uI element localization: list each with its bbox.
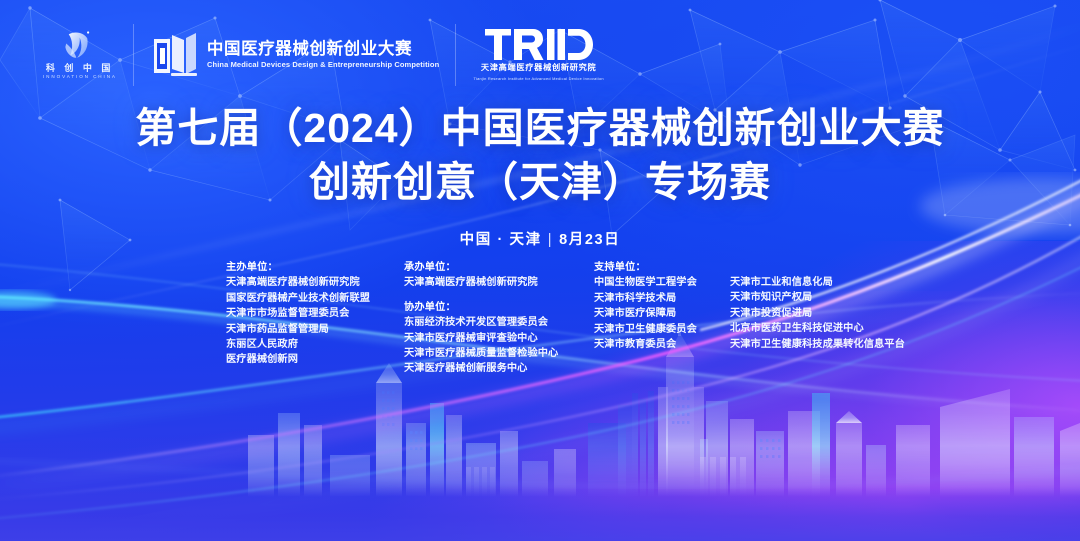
- organizations-column-4: 天津市工业和信息化局 天津市知识产权局 天津市投资促进局 北京市医药卫生科技促进…: [730, 260, 948, 377]
- org-heading: 支持单位：: [594, 260, 712, 275]
- subtitle-date: 8月23日: [559, 232, 620, 248]
- logo-bar: 科 创 中 国 INNOVATION CHINA 中国医疗器械创新创业大赛 Ch…: [26, 24, 618, 86]
- logo-competition: 中国医疗器械创新创业大赛 China Medical Devices Desig…: [133, 24, 456, 86]
- org-item: 天津市医疗器械审评查验中心: [404, 331, 576, 346]
- poster-banner: 科 创 中 国 INNOVATION CHINA 中国医疗器械创新创业大赛 Ch…: [0, 0, 1080, 541]
- triid-logo-cn: 天津高端医疗器械创新研究院: [481, 64, 597, 72]
- competition-logo-en: China Medical Devices Design & Entrepren…: [207, 61, 439, 69]
- org-item: 天津高端医疗器械创新研究院: [404, 275, 576, 290]
- org-item: 天津市知识产权局: [730, 290, 930, 305]
- org-item: 天津市工业和信息化局: [730, 275, 930, 290]
- bottom-vignette: [0, 487, 1080, 541]
- org-heading: 主办单位：: [226, 260, 386, 275]
- org-item: 天津市药品监督管理局: [226, 322, 386, 337]
- kechuang-logo-cn: 科 创 中 国: [43, 64, 114, 73]
- logo-kechuang-zhongguo: 科 创 中 国 INNOVATION CHINA: [26, 24, 133, 86]
- org-item: 天津市教育委员会: [594, 337, 712, 352]
- org-heading: 承办单位：: [404, 260, 576, 275]
- org-item: 医疗器械创新网: [226, 352, 386, 367]
- org-heading: 协办单位：: [404, 300, 576, 315]
- org-item: 天津市科学技术局: [594, 291, 712, 306]
- org-item: 天津市投资促进局: [730, 306, 930, 321]
- title-line-2: 创新创意（天津）专场赛: [0, 158, 1080, 206]
- triid-wordmark-icon: [485, 29, 593, 60]
- org-item: 天津市卫生健康委员会: [594, 322, 712, 337]
- org-item: 天津市医疗保障局: [594, 306, 712, 321]
- org-item: 天津高端医疗器械创新研究院: [226, 275, 386, 290]
- org-item: 天津市医疗器械质量监督检验中心: [404, 346, 576, 361]
- organizations-column-3: 支持单位： 中国生物医学工程学会 天津市科学技术局 天津市医疗保障局 天津市卫生…: [594, 260, 730, 377]
- org-item: 中国生物医学工程学会: [594, 275, 712, 290]
- org-spacer: [404, 291, 576, 300]
- kechuang-logo-en: INNOVATION CHINA: [40, 75, 117, 80]
- organizations-section: 主办单位： 天津高端医疗器械创新研究院 国家医疗器械产业技术创新联盟 天津市市场…: [226, 260, 948, 377]
- triid-logo-en: Tianjin Research Institute for Advanced …: [473, 77, 603, 81]
- org-item: 东丽区人民政府: [226, 337, 386, 352]
- org-item: 天津市市场监督管理委员会: [226, 306, 386, 321]
- org-item: 东丽经济技术开发区管理委员会: [404, 315, 576, 330]
- kechuang-bird-icon: [61, 30, 95, 62]
- competition-logo-cn: 中国医疗器械创新创业大赛: [207, 41, 442, 58]
- organizations-column-1: 主办单位： 天津高端医疗器械创新研究院 国家医疗器械产业技术创新联盟 天津市市场…: [226, 260, 404, 377]
- poster-title: 第七届（2024）中国医疗器械创新创业大赛 创新创意（天津）专场赛: [0, 104, 1080, 207]
- org-item: 国家医疗器械产业技术创新联盟: [226, 291, 386, 306]
- open-book-door-icon: [152, 33, 198, 77]
- logo-triid: 天津高端医疗器械创新研究院 Tianjin Research Institute…: [455, 24, 617, 86]
- org-item: 天津市卫生健康科技成果转化信息平台: [730, 337, 930, 352]
- poster-subtitle: 中国 · 天津|8月23日: [0, 228, 1080, 249]
- title-line-1: 第七届（2024）中国医疗器械创新创业大赛: [0, 104, 1080, 152]
- organizations-column-2: 承办单位： 天津高端医疗器械创新研究院 协办单位： 东丽经济技术开发区管理委员会…: [404, 260, 594, 377]
- subtitle-location: 中国 · 天津: [460, 232, 542, 248]
- subtitle-divider: |: [548, 232, 553, 248]
- org-item: 北京市医药卫生科技促进中心: [730, 321, 930, 336]
- org-item: 天津医疗器械创新服务中心: [404, 361, 576, 376]
